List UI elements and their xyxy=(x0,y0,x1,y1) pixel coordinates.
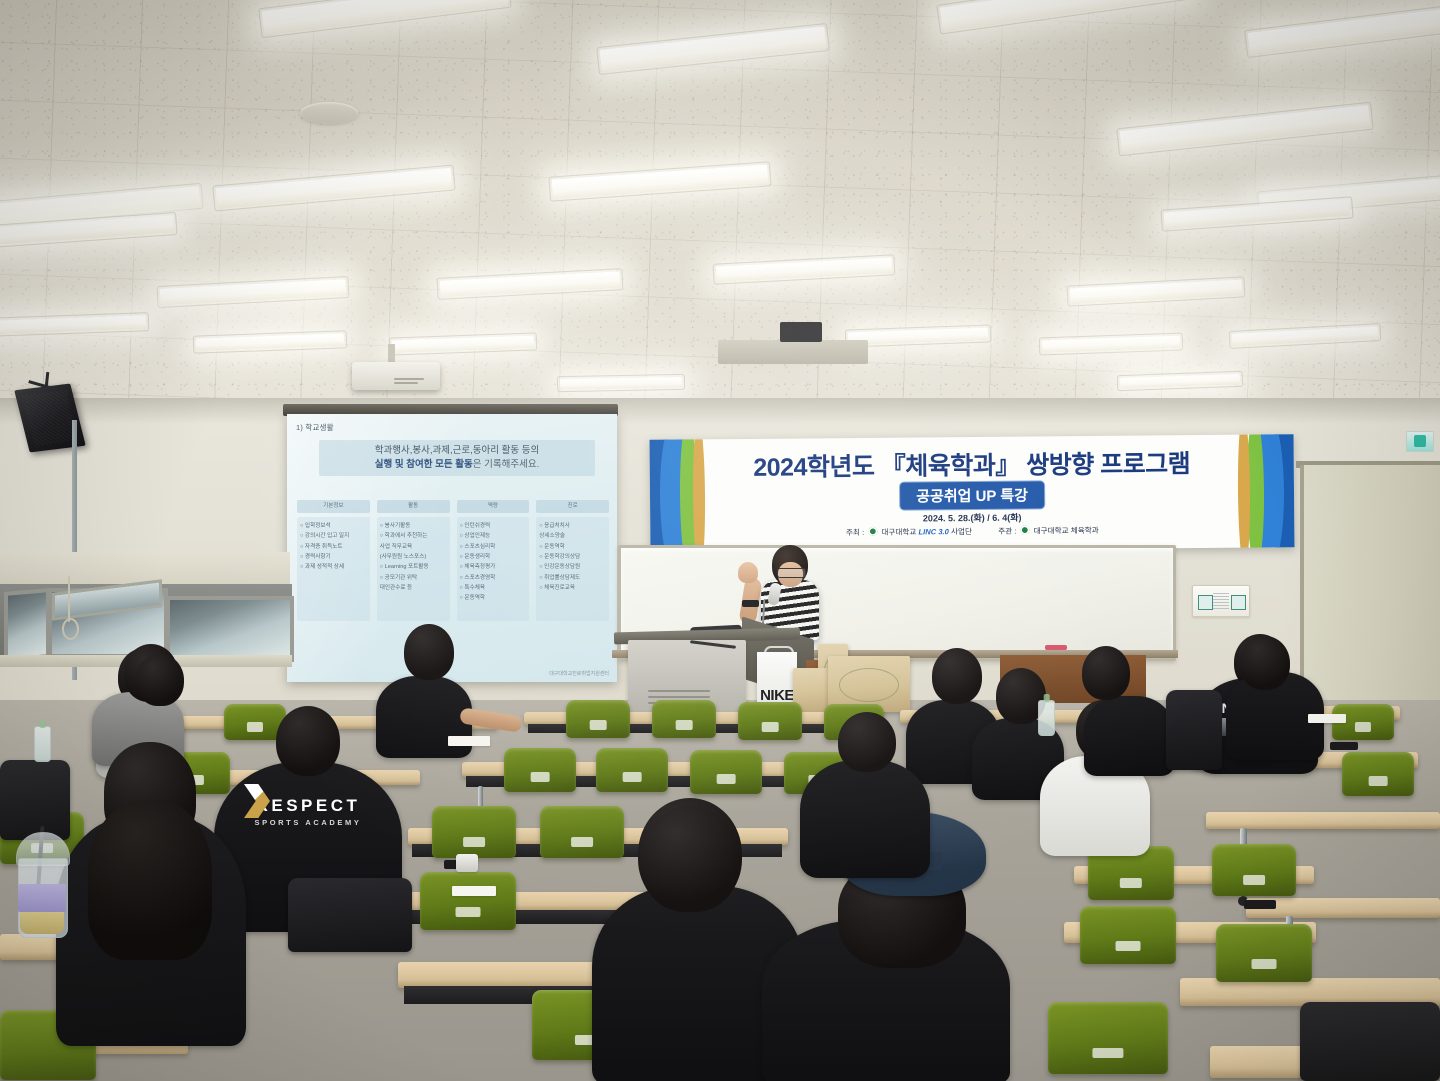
chair[interactable] xyxy=(1342,752,1414,796)
wall-placard xyxy=(1192,585,1250,617)
slide-column-body: ○ 봉사기활동 ○ 학과에서 추천하는 사업 직무교육 (사무원원 노스포스) … xyxy=(377,517,450,621)
ceiling-speaker xyxy=(300,102,358,124)
water-bottle xyxy=(34,726,51,762)
slide-column-header: 역량 xyxy=(457,500,530,513)
slide-column-body: ○ 응급처치사 상세소양술 ○ 운동역학 ○ 운동학강의상담 ○ 인강운동상담원… xyxy=(536,517,609,621)
slide-item: (사무원원 노스포스) xyxy=(380,552,447,562)
slide-item: ○ 봉사기활동 xyxy=(380,521,447,531)
water-bottle xyxy=(1038,700,1055,736)
ceiling xyxy=(0,0,1440,430)
ceiling-light xyxy=(560,377,682,389)
chair[interactable] xyxy=(1048,1002,1168,1074)
slide-item: 대인관수료 등 xyxy=(380,583,447,593)
attendee-head xyxy=(640,806,740,912)
banner-title: 2024학년도 『체육학과』 쌍방향 프로그램 xyxy=(722,444,1222,484)
shirt-logo-icon xyxy=(244,784,270,818)
slide-item: ○ 상업인제능 xyxy=(460,531,527,541)
slide-item: ○ 과제 성적적 상세 xyxy=(300,562,367,572)
slide-highlight-bold: 실행 및 참여한 모든 활동 xyxy=(375,459,473,470)
slide-item: 사업 직무교육 xyxy=(380,542,447,552)
projector-vent xyxy=(394,378,424,380)
chair[interactable] xyxy=(504,748,576,792)
attendee-head xyxy=(1240,636,1290,690)
paper-handout xyxy=(452,886,496,896)
chair[interactable] xyxy=(566,700,630,738)
university-emblem-icon xyxy=(1021,525,1030,534)
backpack xyxy=(0,760,70,840)
slide-highlight-rest: 은 기록해주세요. xyxy=(473,459,539,470)
slide-item: ○ 운동생리학 xyxy=(460,552,527,562)
drink-cup-sleeve xyxy=(18,884,66,912)
slide-item: ○ Learning 포트활동 xyxy=(380,562,447,572)
box-graphic xyxy=(839,668,899,702)
slide-highlight-line2: 실행 및 참여한 모든 활동은 기록해주세요. xyxy=(322,458,592,472)
slide-item: ○ 입학정보석 xyxy=(300,521,367,531)
chair[interactable] xyxy=(738,702,802,740)
attendee-head xyxy=(404,624,454,680)
attendee-torso xyxy=(1084,696,1174,776)
slide-column-header: 진로 xyxy=(536,500,609,513)
attendee-head xyxy=(838,712,896,772)
backpack xyxy=(1300,1002,1440,1081)
window-pane xyxy=(166,596,294,662)
slide-column-body: ○ 입학정보석 ○ 강의시간 입고 일지 ○ 자격증 취득노트 ○ 경력사항기 … xyxy=(297,517,370,621)
banner-host-org: 사업단 xyxy=(951,527,972,536)
paper-handout xyxy=(1308,714,1346,723)
slide-column: 활동 ○ 봉사기활동 ○ 학과에서 추천하는 사업 직무교육 (사무원원 노스포… xyxy=(377,500,450,621)
banner-subtitle: 공공취업 UP 특강 xyxy=(899,480,1045,510)
blind-cord[interactable] xyxy=(68,576,70,622)
slide-highlight-line1: 학과행사,봉사,과제,근로,동아리 활동 등의 xyxy=(322,444,592,458)
blind-cord-ring[interactable] xyxy=(62,618,79,640)
slide-column: 역량 ○ 인턴쉬경력 ○ 상업인제능 ○ 스포츠심리학 ○ 운동생리학 ○ 체육… xyxy=(457,500,530,621)
ceiling-projector xyxy=(352,362,440,390)
classroom-door[interactable] xyxy=(1300,465,1440,715)
slide-column: 진로 ○ 응급처치사 상세소양술 ○ 운동역학 ○ 운동학강의상담 ○ 인강운동… xyxy=(536,500,609,621)
banner-organizer-label: 주관 : xyxy=(998,527,1016,536)
desk xyxy=(1206,812,1440,829)
slide-item: ○ 인강운동상담원 xyxy=(539,562,606,572)
backpack xyxy=(1166,690,1222,770)
slide-item: ○ 체육진로교육 xyxy=(539,583,606,593)
slide-column-header: 활동 xyxy=(377,500,450,513)
attendee-hair xyxy=(88,800,212,960)
slide-item: ○ 운동역학 xyxy=(539,542,606,552)
glasses-icon xyxy=(777,568,806,578)
slide-item: 상세소양술 xyxy=(539,531,606,541)
shirt-text-respect: RESPECT xyxy=(214,796,402,816)
attendee-head xyxy=(932,648,982,704)
slide-heading: 1) 학교생활 xyxy=(296,422,334,433)
slide-item: ○ 운동학강의상담 xyxy=(539,552,606,562)
banner-host-name: 대구대학교 xyxy=(881,527,916,536)
slide-column: 기본정보 ○ 입학정보석 ○ 강의시간 입고 일지 ○ 자격증 취득노트 ○ 경… xyxy=(297,500,370,621)
banner-organizer-name: 대구대학교 체육학과 xyxy=(1034,526,1099,536)
attendee-torso xyxy=(800,760,930,878)
university-emblem-icon xyxy=(868,527,877,536)
slide-footer-logo: 대구대학교진로취업지원센터 xyxy=(549,670,609,677)
chair[interactable] xyxy=(1212,844,1296,896)
slide-item: ○ 스포츠경영학 xyxy=(460,573,527,583)
ceiling-fixture xyxy=(780,322,822,342)
lectern-vent xyxy=(648,690,710,692)
window-pane xyxy=(4,588,50,662)
drink-liquid xyxy=(20,912,64,934)
lectern-vent xyxy=(648,696,710,698)
attendee-head xyxy=(1082,646,1130,700)
slide-column-body: ○ 인턴쉬경력 ○ 상업인제능 ○ 스포츠심리학 ○ 운동생리학 ○ 체육측정평… xyxy=(457,517,530,621)
ceiling-air-vent xyxy=(718,340,868,364)
slide-item: ○ 자격증 취득노트 xyxy=(300,542,367,552)
smartphone[interactable] xyxy=(1330,742,1358,750)
paper-handout xyxy=(448,736,490,746)
slide-item: ○ 학과에서 추천하는 xyxy=(380,531,447,541)
event-banner: 2024학년도 『체육학과』 쌍방향 프로그램 공공취업 UP 특강 2024.… xyxy=(650,434,1295,553)
attendee-head xyxy=(276,706,340,776)
slide-highlight-box: 학과행사,봉사,과제,근로,동아리 활동 등의 실행 및 참여한 모든 활동은 … xyxy=(319,440,595,476)
attendee-head xyxy=(136,654,184,706)
lecture-hall-photo: 1) 학교생활 학과행사,봉사,과제,근로,동아리 활동 등의 실행 및 참여한… xyxy=(0,0,1440,1081)
slide-item: ○ 경력사항기 xyxy=(300,552,367,562)
presenter-watch xyxy=(742,600,759,607)
chair[interactable] xyxy=(1216,924,1312,982)
wall-shadow xyxy=(0,398,1440,424)
slide-columns: 기본정보 ○ 입학정보석 ○ 강의시간 입고 일지 ○ 자격증 취득노트 ○ 경… xyxy=(297,500,609,621)
slide-item: ○ 인턴쉬경력 xyxy=(460,521,527,531)
chair[interactable] xyxy=(1080,906,1176,964)
chair[interactable] xyxy=(596,748,668,792)
chair[interactable] xyxy=(432,806,516,858)
backpack xyxy=(288,878,412,952)
projector-vent xyxy=(394,382,418,384)
slide-item: ○ 취업률상담제도 xyxy=(539,573,606,583)
slide-item: ○ 운동역학 xyxy=(460,593,527,603)
slide-column-header: 기본정보 xyxy=(297,500,370,513)
slide-item: ○ 강의시간 입고 일지 xyxy=(300,531,367,541)
slide-item: ○ 체육측정평가 xyxy=(460,562,527,572)
presenter-hand xyxy=(738,562,758,583)
chair[interactable] xyxy=(690,750,762,794)
slide-item: ○ 스포츠심리학 xyxy=(460,542,527,552)
shirt-text-respect-sub: SPORTS ACADEMY xyxy=(214,818,402,827)
banner-host-label: 주최 : xyxy=(846,528,864,537)
banner-host-program: LINC 3.0 xyxy=(918,527,948,536)
smartphone[interactable] xyxy=(1244,900,1276,909)
placard-text-lines xyxy=(1213,593,1229,609)
whiteboard-marker xyxy=(1045,645,1067,650)
placard-icon xyxy=(1231,595,1246,610)
slide-item: ○ 공모기관 위탁 xyxy=(380,573,447,583)
chair[interactable] xyxy=(652,700,716,738)
small-item xyxy=(456,854,478,872)
slide-item: ○ 특수체육 xyxy=(460,583,527,593)
chair[interactable] xyxy=(540,806,624,858)
chair[interactable] xyxy=(420,872,516,930)
placard-icon xyxy=(1198,595,1213,610)
exit-sign-icon xyxy=(1406,431,1434,452)
slide-item: ○ 응급처치사 xyxy=(539,521,606,531)
